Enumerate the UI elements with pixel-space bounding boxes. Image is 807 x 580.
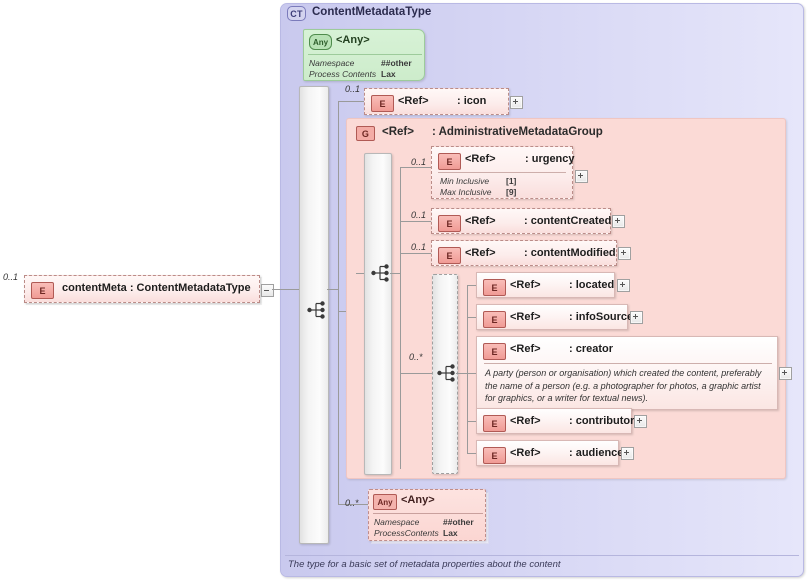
any-top-title: <Any> <box>336 34 370 46</box>
connector-group-stub <box>390 273 400 274</box>
element-ref: <Ref> <box>510 343 541 355</box>
element-ref: <Ref> <box>465 215 496 227</box>
connector-outer-stub <box>327 289 338 290</box>
element-node-infosource[interactable]: E <Ref> : infoSource <box>476 304 628 330</box>
any-badge: Any <box>373 494 397 510</box>
group-ref: <Ref> <box>382 126 414 138</box>
any-bottom-node[interactable]: Any <Any> Namespace ##other ProcessConte… <box>368 489 486 541</box>
element-badge: E <box>483 447 506 464</box>
contentmodified-cardinality: 0..1 <box>411 242 426 252</box>
element-name: : audience <box>569 447 623 459</box>
connector-to-inner-seq <box>400 373 432 374</box>
connector-inner-stub <box>456 373 467 374</box>
connector-outer-trunk <box>338 101 339 504</box>
element-name: : urgency <box>525 153 575 165</box>
expand-icon[interactable] <box>634 415 647 428</box>
element-ref: <Ref> <box>510 415 541 427</box>
element-badge: E <box>483 415 506 432</box>
root-collapse-toggle[interactable] <box>261 284 274 297</box>
any-top-properties: Namespace ##other Process Contents Lax <box>309 58 421 80</box>
element-name: : contributor <box>569 415 634 427</box>
connector-to-urgency <box>400 167 431 168</box>
element-name: : contentCreated <box>524 215 611 227</box>
complextype-badge: CT <box>287 6 306 21</box>
urgency-facet-0-value: [1] <box>506 176 516 186</box>
connector-to-contentmodified <box>400 253 431 254</box>
divider <box>438 172 566 173</box>
expand-icon[interactable] <box>630 311 643 324</box>
element-node-located[interactable]: E <Ref> : located <box>476 272 615 298</box>
any-top-prop-0-value: ##other <box>381 58 412 68</box>
creator-annotation: A party (person or organisation) which c… <box>485 367 773 405</box>
element-node-contentcreated[interactable]: E <Ref> : contentCreated <box>431 208 611 234</box>
any-bottom-prop-0-key: Namespace <box>374 517 419 527</box>
sequence-icon <box>307 301 329 319</box>
element-ref: <Ref> <box>510 279 541 291</box>
element-badge: E <box>483 343 506 360</box>
expand-icon[interactable] <box>617 279 630 292</box>
connector-to-infosource <box>467 317 476 318</box>
connector-to-audience <box>467 453 476 454</box>
element-ref: <Ref> <box>465 247 496 259</box>
element-badge: E <box>438 153 461 170</box>
any-bottom-cardinality: 0..* <box>345 498 359 508</box>
any-top-prop-0-key: Namespace <box>309 58 354 68</box>
any-top-node[interactable]: Any <Any> Namespace ##other Process Cont… <box>303 29 425 81</box>
root-element-node[interactable]: E contentMeta : ContentMetadataType <box>24 275 260 303</box>
connector-inner-trunk <box>467 285 468 453</box>
urgency-facet-0-key: Min Inclusive <box>440 176 489 186</box>
urgency-facet-1-value: [9] <box>506 187 516 197</box>
expand-icon[interactable] <box>621 447 634 460</box>
root-element-label: contentMeta : ContentMetadataType <box>62 282 251 294</box>
connector-to-contentcreated <box>400 221 431 222</box>
urgency-facet-1-key: Max Inclusive <box>440 187 492 197</box>
any-top-prop-1-value: Lax <box>381 69 396 79</box>
expand-icon[interactable] <box>510 96 523 109</box>
group-badge: G <box>356 126 375 141</box>
expand-icon[interactable] <box>618 247 631 260</box>
element-badge: E <box>438 247 461 264</box>
connector-group-in <box>356 273 364 274</box>
element-name: : creator <box>569 343 613 355</box>
element-badge: E <box>483 311 506 328</box>
connector-to-icon <box>338 101 364 102</box>
element-name: : contentModified <box>524 247 616 259</box>
any-top-prop-1-key: Process Contents <box>309 69 376 79</box>
element-ref: <Ref> <box>398 95 429 107</box>
element-node-contributor[interactable]: E <Ref> : contributor <box>476 408 632 434</box>
complextype-annotation: The type for a basic set of metadata pro… <box>288 559 788 570</box>
connector-to-located <box>467 285 476 286</box>
contentcreated-cardinality: 0..1 <box>411 210 426 220</box>
element-badge: E <box>438 215 461 232</box>
element-name: : located <box>569 279 614 291</box>
connector-group-trunk <box>400 167 401 469</box>
divider <box>373 513 483 514</box>
element-ref: <Ref> <box>465 153 496 165</box>
element-ref: <Ref> <box>510 311 541 323</box>
element-ref: <Ref> <box>510 447 541 459</box>
element-node-urgency[interactable]: E <Ref> : urgency Min Inclusive [1] Max … <box>431 146 573 199</box>
any-bottom-properties: Namespace ##other ProcessContents Lax <box>374 517 484 539</box>
group-name: : AdministrativeMetadataGroup <box>432 126 603 138</box>
any-bottom-title: <Any> <box>401 494 435 506</box>
element-node-creator[interactable]: E <Ref> : creator A party (person or org… <box>476 336 778 410</box>
schema-diagram-canvas: CT ContentMetadataType 0..1 E contentMet… <box>0 0 807 580</box>
any-bottom-prop-1-value: Lax <box>443 528 458 538</box>
root-cardinality: 0..1 <box>3 272 18 282</box>
element-name: : infoSource <box>569 311 633 323</box>
expand-icon[interactable] <box>575 170 588 183</box>
element-node-audience[interactable]: E <Ref> : audience <box>476 440 619 466</box>
element-name: : icon <box>457 95 486 107</box>
group-sequence-bar[interactable] <box>364 153 392 475</box>
inner-sequence-cardinality: 0..* <box>409 352 423 362</box>
expand-icon[interactable] <box>612 215 625 228</box>
connector-to-contributor <box>467 421 476 422</box>
urgency-cardinality: 0..1 <box>411 157 426 167</box>
divider <box>285 555 799 556</box>
expand-icon[interactable] <box>779 367 792 380</box>
icon-cardinality: 0..1 <box>345 84 360 94</box>
connector-to-creator <box>467 373 476 374</box>
any-bottom-prop-0-value: ##other <box>443 517 474 527</box>
divider <box>484 363 772 364</box>
element-node-icon[interactable]: E <Ref> : icon <box>364 88 509 115</box>
element-badge: E <box>31 282 54 299</box>
divider <box>308 54 422 55</box>
any-badge: Any <box>309 34 332 50</box>
element-node-contentmodified[interactable]: E <Ref> : contentModified <box>431 240 617 266</box>
complextype-title: ContentMetadataType <box>312 6 431 18</box>
element-badge: E <box>371 95 394 112</box>
any-bottom-prop-1-key: ProcessContents <box>374 528 439 538</box>
element-badge: E <box>483 279 506 296</box>
